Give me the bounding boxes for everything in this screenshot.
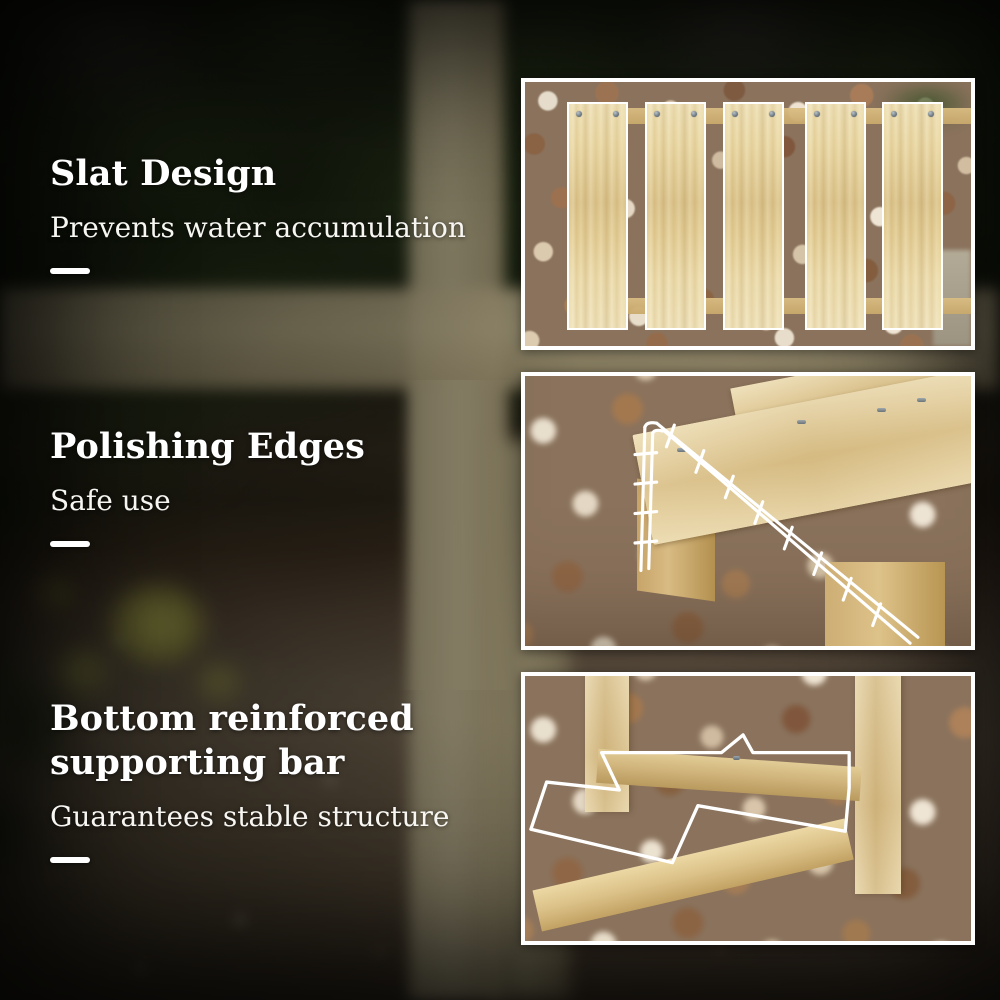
feature-divider-rule	[50, 857, 90, 863]
screw-icon	[814, 111, 820, 117]
feature-title: Polishing Edges	[50, 425, 520, 469]
infographic-canvas: Slat Design Prevents water accumulation …	[0, 0, 1000, 1000]
feature-block-slat-design: Slat Design Prevents water accumulation	[50, 152, 520, 274]
screw-icon	[769, 111, 775, 117]
feature-subtitle: Prevents water accumulation	[50, 210, 520, 246]
photo-slats	[521, 78, 975, 350]
screw-icon	[691, 111, 697, 117]
screw-icon	[576, 111, 582, 117]
feature-block-polishing-edges: Polishing Edges Safe use	[50, 425, 520, 547]
feature-title: Bottom reinforced supporting bar	[50, 697, 520, 785]
wood-texture	[569, 104, 626, 328]
screw-icon	[928, 111, 934, 117]
feature-subtitle: Guarantees stable structure	[50, 799, 520, 835]
slat-highlight-1	[567, 102, 628, 330]
slat-highlight-4	[805, 102, 866, 330]
wood-texture	[807, 104, 864, 328]
feature-title: Slat Design	[50, 152, 520, 196]
screw-icon	[732, 111, 738, 117]
support-bar-outline-annotation	[525, 676, 971, 941]
screw-icon	[851, 111, 857, 117]
feature-subtitle: Safe use	[50, 483, 520, 519]
screw-icon	[891, 111, 897, 117]
screw-icon	[654, 111, 660, 117]
wood-texture	[725, 104, 782, 328]
photo-polished-edge	[521, 372, 975, 650]
slat-highlight-2	[645, 102, 706, 330]
screw-icon	[613, 111, 619, 117]
slat-highlight-3	[723, 102, 784, 330]
polished-edge-hatch-annotation	[525, 376, 971, 646]
feature-divider-rule	[50, 541, 90, 547]
photo-support-bar	[521, 672, 975, 945]
slat-highlight-5	[882, 102, 943, 330]
feature-divider-rule	[50, 268, 90, 274]
wood-texture	[647, 104, 704, 328]
wood-texture	[884, 104, 941, 328]
feature-block-supporting-bar: Bottom reinforced supporting bar Guarant…	[50, 697, 520, 863]
